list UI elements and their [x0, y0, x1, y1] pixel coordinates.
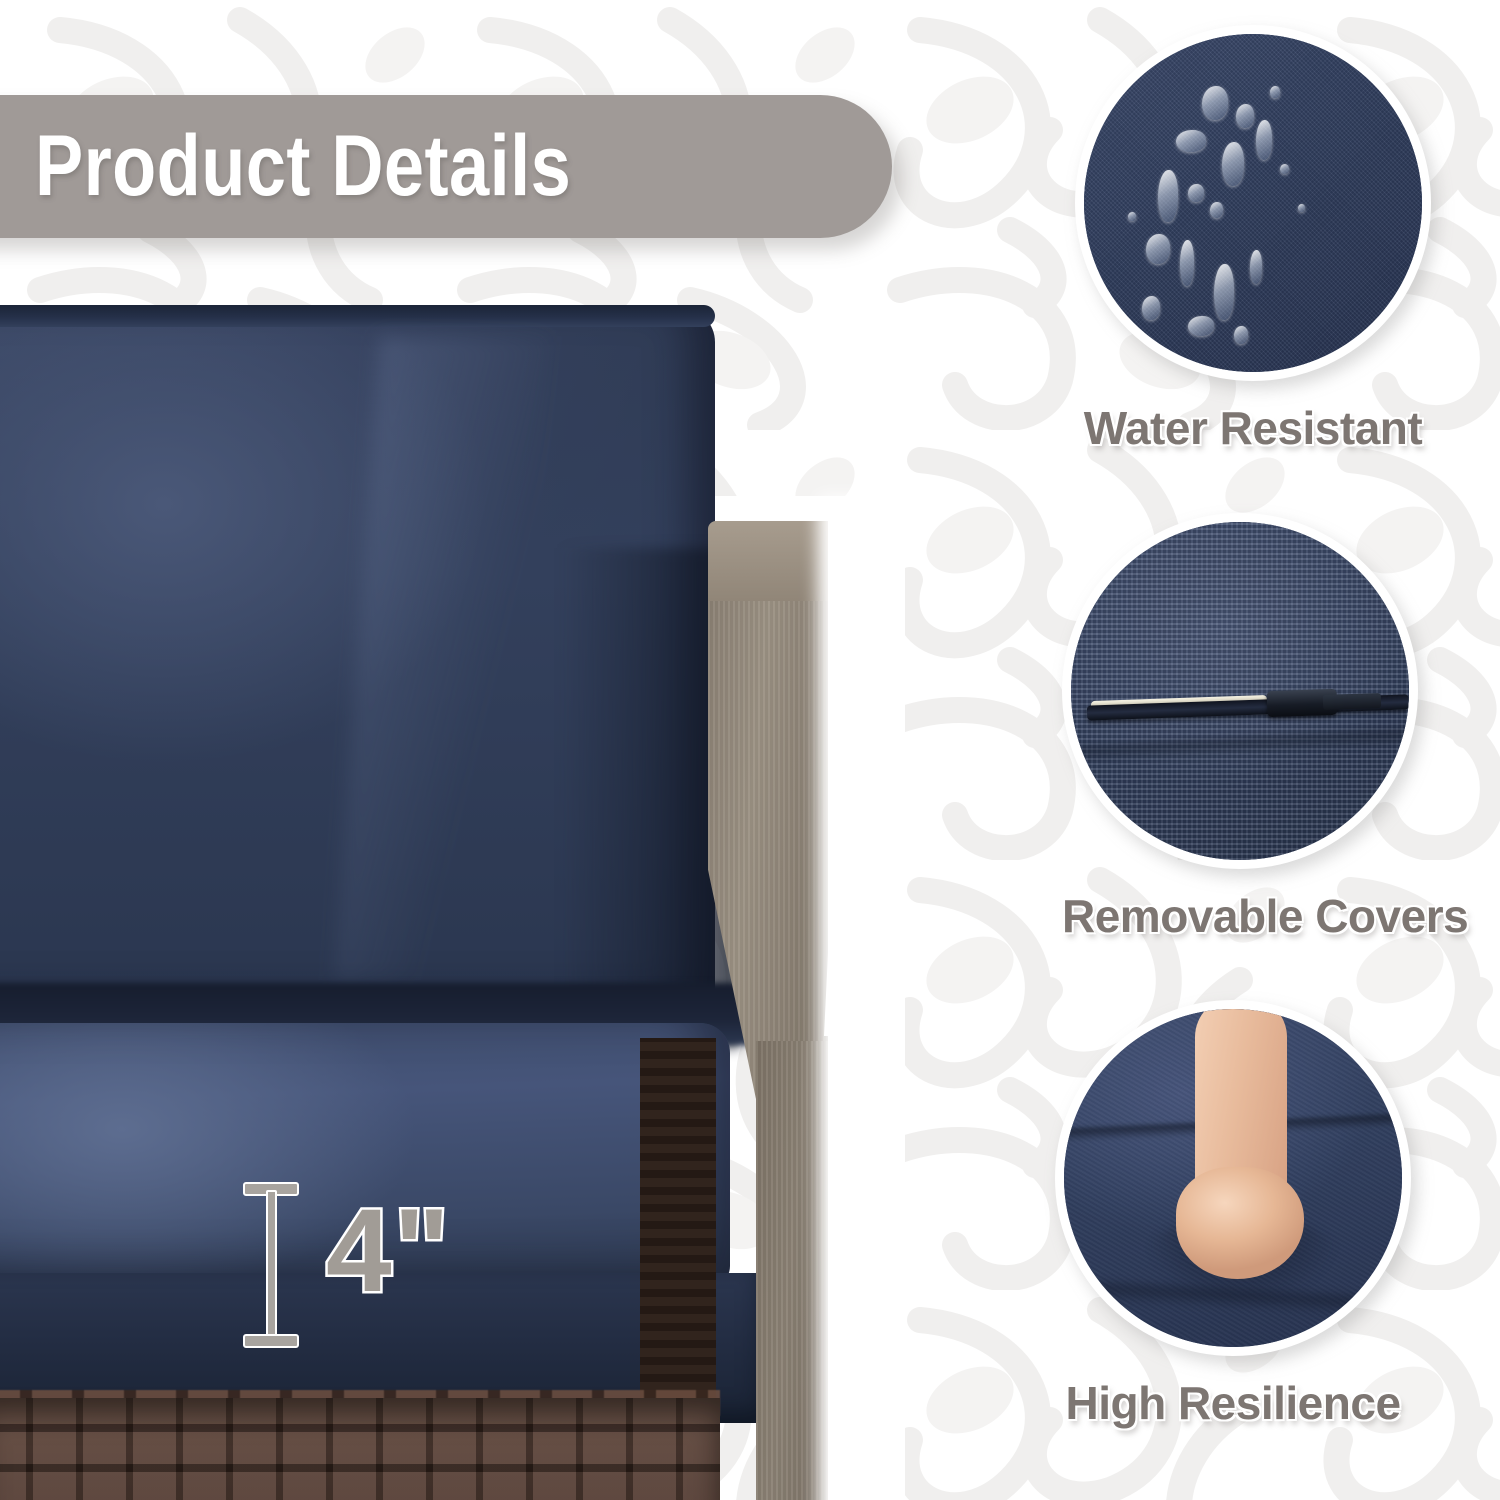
- feature-label: High Resilience: [1055, 1376, 1411, 1430]
- feature-removable-covers: Removable Covers: [1062, 513, 1418, 943]
- water-droplets-icon: [1075, 25, 1431, 381]
- armrest-top-cap: [708, 521, 842, 611]
- page-title: Product Details: [35, 117, 571, 216]
- thickness-dimension-marker: [243, 1182, 299, 1348]
- thickness-value-label: 4": [326, 1192, 452, 1310]
- infographic-canvas: Product Details 4": [0, 0, 1500, 1500]
- dimension-bar: [266, 1190, 277, 1340]
- navy-fabric-texture: [1071, 522, 1409, 860]
- armrest: [690, 521, 842, 1500]
- main-product-photo: [0, 248, 905, 1500]
- navy-fabric-texture: [1084, 34, 1422, 372]
- wicker-base: [0, 1398, 720, 1500]
- zipper-pull-tab: [1323, 693, 1381, 710]
- photo-silhouette-cutout-right: [828, 496, 905, 1500]
- feature-water-resistant: Water Resistant: [1075, 25, 1431, 455]
- hand-press-icon: [1055, 1000, 1411, 1356]
- feature-label: Water Resistant: [1075, 401, 1431, 455]
- feature-label: Removable Covers: [1062, 889, 1418, 943]
- zipper-icon: [1062, 513, 1418, 869]
- product-details-banner: Product Details: [0, 95, 892, 238]
- dimension-cap-bottom: [243, 1334, 299, 1348]
- feature-high-resilience: High Resilience: [1055, 1000, 1411, 1430]
